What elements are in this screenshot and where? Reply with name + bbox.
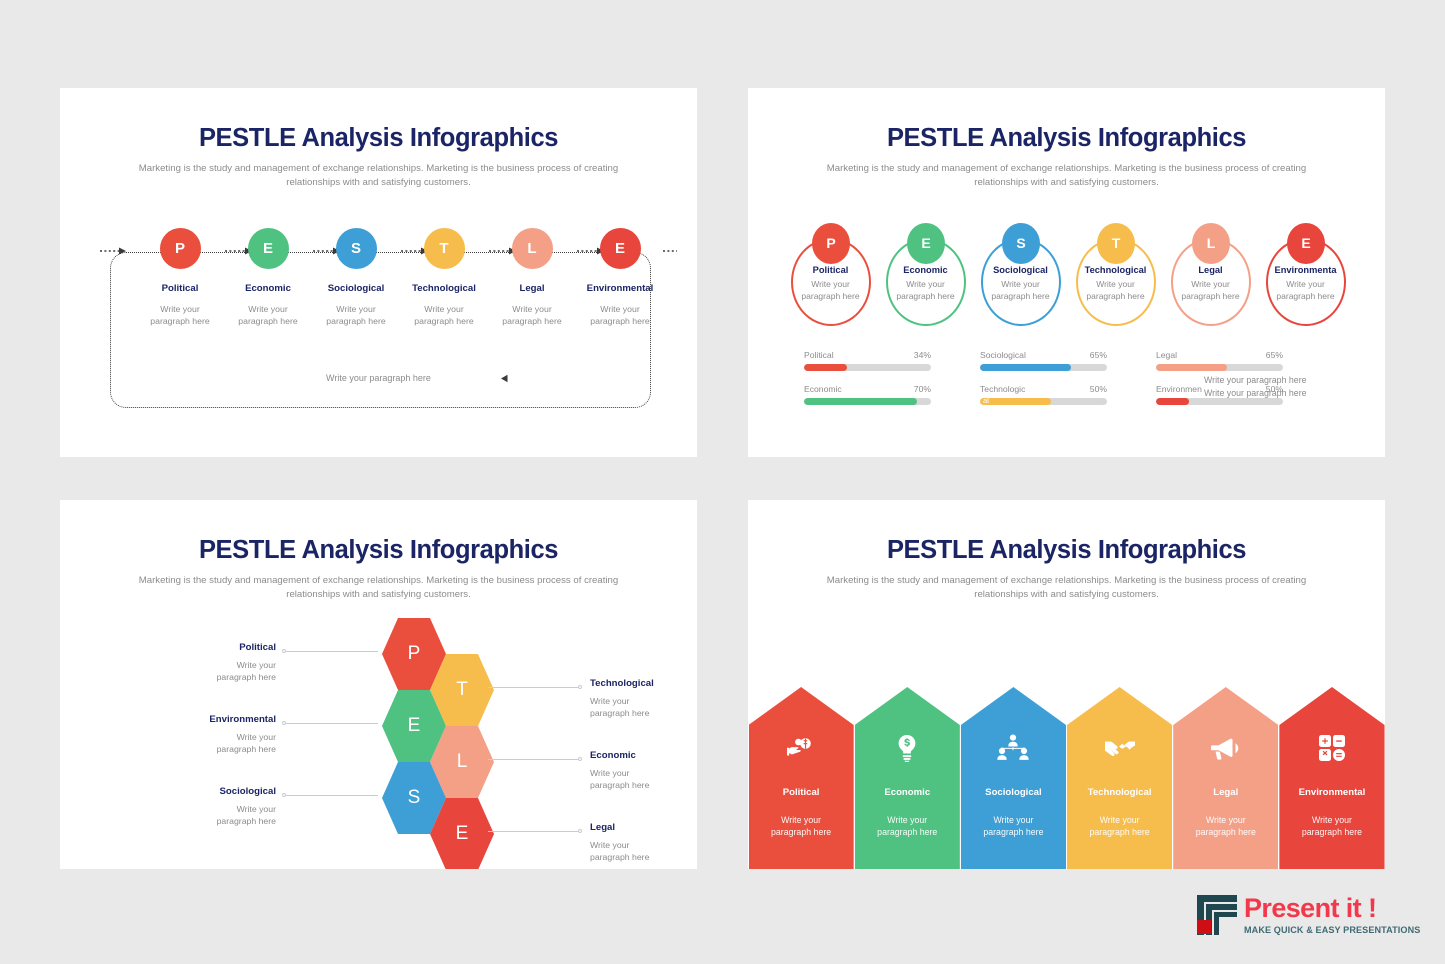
bar-header: Political 34%	[804, 350, 931, 360]
label-body-line1: Write your	[136, 659, 276, 671]
arrow-body: Write your paragraph here	[1279, 814, 1384, 839]
arrow-column-political[interactable]: Political Write your paragraph here	[749, 687, 854, 869]
arrow-body-line2: paragraph here	[1279, 826, 1384, 838]
bar-value: 70%	[914, 384, 931, 394]
node-body-line1: Write your	[224, 303, 312, 315]
bar-track	[980, 364, 1107, 372]
label-body: Write your paragraph here	[590, 767, 697, 792]
arrow-body: Write your paragraph here	[961, 814, 1066, 839]
node-body-line2: paragraph here	[312, 315, 400, 327]
node-body-line2: paragraph here	[224, 315, 312, 327]
circle-body-line2: paragraph here	[1067, 291, 1164, 303]
circle-text: Economic Write your paragraph here	[877, 265, 974, 303]
arrow-column-economic[interactable]: Economic Write your paragraph here	[855, 687, 960, 869]
connector-dot-technological	[578, 685, 582, 689]
node-body-line2: paragraph here	[136, 315, 224, 327]
letter-badge: P	[812, 223, 850, 264]
circle-body: Write your paragraph here	[1067, 279, 1164, 303]
arrow-body-line2: paragraph here	[855, 826, 960, 838]
label-political[interactable]: Political Write your paragraph here	[136, 642, 276, 684]
node-body: Write your paragraph here	[224, 303, 312, 328]
node-body: Write your paragraph here	[136, 303, 224, 328]
bar-track: al	[980, 398, 1107, 406]
label-title: Sociological	[136, 786, 276, 797]
page-title: PESTLE Analysis Infographics	[748, 124, 1385, 153]
bar-group-technological[interactable]: Technologic 50% al	[980, 384, 1107, 405]
circle-body-line1: Write your	[1162, 279, 1259, 291]
arrow-label: Sociological	[961, 787, 1066, 798]
connector-dot-environmental	[282, 721, 286, 725]
circle-body: Write your paragraph here	[972, 279, 1069, 303]
node-label: Legal	[488, 283, 576, 294]
letter-badge: E	[1287, 223, 1325, 264]
arrow-body-line2: paragraph here	[961, 826, 1066, 838]
bar-label: Environmen	[1156, 385, 1202, 394]
circle-body: Write your paragraph here	[782, 279, 879, 303]
letter-badge: L	[512, 228, 553, 269]
label-body: Write your paragraph here	[136, 731, 276, 756]
slide1-diagram: P Political Write your paragraph here E …	[106, 228, 651, 418]
label-legal[interactable]: Legal Write your paragraph here	[590, 822, 697, 864]
node-label: Sociological	[312, 283, 400, 294]
circle-text: Political Write your paragraph here	[782, 265, 879, 303]
circle-body: Write your paragraph here	[1257, 279, 1354, 303]
bar-label: Technologic	[980, 385, 1025, 394]
arrow-body: Write your paragraph here	[749, 814, 854, 839]
circle-label: Economic	[877, 265, 974, 275]
logo-tagline: MAKE QUICK & EASY PRESENTATIONS	[1244, 925, 1420, 935]
label-body: Write your paragraph here	[590, 695, 697, 720]
connector-line-legal	[488, 831, 580, 832]
label-title: Political	[136, 642, 276, 653]
node-label: Economic	[224, 283, 312, 294]
connector-dot-sociological	[282, 793, 286, 797]
bar-header: Economic 70%	[804, 384, 931, 394]
arrow-body-line1: Write your	[1173, 814, 1278, 826]
circle-body-line2: paragraph here	[782, 291, 879, 303]
connector-line-economic	[488, 759, 580, 760]
circle-text: Sociological Write your paragraph here	[972, 265, 1069, 303]
circle-body: Write your paragraph here	[877, 279, 974, 303]
circle-body-line1: Write your	[877, 279, 974, 291]
arrow-label: Political	[749, 787, 854, 798]
letter-badge: E	[248, 228, 289, 269]
arrow-body: Write your paragraph here	[1067, 814, 1172, 839]
label-body-line2: paragraph here	[136, 815, 276, 827]
node-body-line1: Write your	[312, 303, 400, 315]
arrow-label: Economic	[855, 787, 960, 798]
label-body-line2: paragraph here	[136, 743, 276, 755]
arrow-column-technological[interactable]: Technological Write your paragraph here	[1067, 687, 1172, 869]
nested-squares-icon	[1196, 894, 1238, 936]
letter-badge: E	[907, 223, 945, 264]
arrow-label: Legal	[1173, 787, 1278, 798]
bar-header: Technologic 50%	[980, 384, 1107, 394]
label-body: Write your paragraph here	[136, 803, 276, 828]
arrow-body: Write your paragraph here	[855, 814, 960, 839]
people-network-icon	[961, 733, 1066, 763]
bar-label: Economic	[804, 385, 842, 394]
bar-label-overflow: al	[983, 398, 989, 406]
slide2-circles-row: P Political Write your paragraph here E …	[782, 213, 1352, 338]
label-body-line1: Write your	[590, 767, 697, 779]
node-environmental[interactable]: E Environmental Write your paragraph her…	[576, 228, 664, 328]
circle-label: Legal	[1162, 265, 1259, 275]
bar-track	[804, 364, 931, 372]
circle-item-sociological[interactable]: S Sociological Write your paragraph here	[972, 223, 1069, 328]
letter-badge: L	[1192, 223, 1230, 264]
bar-group-legal[interactable]: Legal 65%	[1156, 350, 1283, 371]
bar-value: 50%	[1090, 384, 1107, 394]
logo-text: Present it ! MAKE QUICK & EASY PRESENTAT…	[1244, 895, 1420, 935]
hand-coin-icon	[749, 733, 854, 763]
node-body: Write your paragraph here	[312, 303, 400, 328]
bar-label: Legal	[1156, 351, 1177, 360]
slide-linear-process[interactable]: PESTLE Analysis Infographics Marketing i…	[60, 88, 697, 457]
label-sociological[interactable]: Sociological Write your paragraph here	[136, 786, 276, 828]
bar-column-2: Sociological 65% Technologic 50% al	[980, 350, 1107, 418]
slide2-note-line1: Write your paragraph here	[1204, 374, 1307, 387]
label-body-line2: paragraph here	[590, 707, 697, 719]
circle-text: Technological Write your paragraph here	[1067, 265, 1164, 303]
arrow-columns: Political Write your paragraph here	[748, 687, 1385, 869]
bar-track	[804, 398, 931, 406]
slide1-bottom-label: Write your paragraph here	[106, 373, 651, 383]
page-subtitle: Marketing is the study and management of…	[139, 162, 619, 190]
label-body: Write your paragraph here	[136, 659, 276, 684]
letter-badge: S	[1002, 223, 1040, 264]
bar-header: Sociological 65%	[980, 350, 1107, 360]
bar-group-economic[interactable]: Economic 70%	[804, 384, 931, 405]
slide2-note-line2: Write your paragraph here	[1204, 387, 1307, 400]
bar-fill	[1156, 398, 1189, 406]
bar-value: 65%	[1090, 350, 1107, 360]
arrow-body: Write your paragraph here	[1173, 814, 1278, 839]
connector-line-technological	[488, 687, 580, 688]
node-body: Write your paragraph here	[400, 303, 488, 328]
arrow-entry-icon	[100, 247, 128, 255]
circle-item-economic[interactable]: E Economic Write your paragraph here	[877, 223, 974, 328]
label-body: Write your paragraph here	[590, 839, 697, 864]
circle-body-line2: paragraph here	[972, 291, 1069, 303]
label-title: Environmental	[136, 714, 276, 725]
bar-fill	[980, 398, 1051, 406]
circle-text: Legal Write your paragraph here	[1162, 265, 1259, 303]
page-subtitle: Marketing is the study and management of…	[827, 574, 1307, 602]
bar-track	[1156, 364, 1283, 372]
page-title: PESTLE Analysis Infographics	[60, 536, 697, 565]
bar-fill	[1156, 364, 1227, 372]
slide-circles-with-bars[interactable]: PESTLE Analysis Infographics Marketing i…	[748, 88, 1385, 457]
bar-header: Legal 65%	[1156, 350, 1283, 360]
label-body-line2: paragraph here	[590, 779, 697, 791]
circle-body-line2: paragraph here	[1162, 291, 1259, 303]
node-label: Technological	[400, 283, 488, 294]
node-political[interactable]: P Political Write your paragraph here	[136, 228, 224, 328]
node-body-line1: Write your	[136, 303, 224, 315]
bar-value: 65%	[1266, 350, 1283, 360]
label-title: Economic	[590, 750, 697, 761]
node-body-line1: Write your	[576, 303, 664, 315]
label-body-line1: Write your	[136, 803, 276, 815]
circle-body-line1: Write your	[1257, 279, 1354, 291]
lightbulb-dollar-icon	[855, 733, 960, 763]
node-body-line2: paragraph here	[576, 315, 664, 327]
brand-logo[interactable]: Present it ! MAKE QUICK & EASY PRESENTAT…	[1196, 894, 1420, 936]
node-technological[interactable]: T Technological Write your paragraph her…	[400, 228, 488, 328]
label-title: Technological	[590, 678, 697, 689]
letter-badge: P	[160, 228, 201, 269]
arrow-label: Technological	[1067, 787, 1172, 798]
label-body-line2: paragraph here	[136, 671, 276, 683]
connector-line-environmental	[286, 723, 378, 724]
circle-label: Technological	[1067, 265, 1164, 275]
label-title: Legal	[590, 822, 697, 833]
bar-value: 34%	[914, 350, 931, 360]
slide-honeycomb[interactable]: PESTLE Analysis Infographics Marketing i…	[60, 500, 697, 869]
letter-badge: T	[1097, 223, 1135, 264]
node-body-line2: paragraph here	[400, 315, 488, 327]
node-body-line1: Write your	[488, 303, 576, 315]
circle-body: Write your paragraph here	[1162, 279, 1259, 303]
arrow-body-line2: paragraph here	[1173, 826, 1278, 838]
circle-item-environmental[interactable]: E Environmenta Write your paragraph here	[1257, 223, 1354, 328]
node-label: Environmental	[576, 283, 664, 294]
circle-text: Environmenta Write your paragraph here	[1257, 265, 1354, 303]
node-body-line2: paragraph here	[488, 315, 576, 327]
slide-deck-canvas: PESTLE Analysis Infographics Marketing i…	[0, 0, 1445, 964]
page-subtitle: Marketing is the study and management of…	[139, 574, 619, 602]
circle-body-line1: Write your	[972, 279, 1069, 291]
connector-dot-political	[282, 649, 286, 653]
circle-item-technological[interactable]: T Technological Write your paragraph her…	[1067, 223, 1164, 328]
handshake-icon	[1067, 733, 1172, 763]
circle-body-line1: Write your	[782, 279, 879, 291]
letter-badge: T	[424, 228, 465, 269]
circle-body-line1: Write your	[1067, 279, 1164, 291]
letter-badge: S	[336, 228, 377, 269]
bar-column-1: Political 34% Economic 70%	[804, 350, 931, 418]
label-body-line2: paragraph here	[590, 851, 697, 863]
megaphone-icon	[1173, 733, 1278, 763]
honeycomb-diagram: P T E L S E Political Write	[60, 618, 697, 868]
node-legal[interactable]: L Legal Write your paragraph here	[488, 228, 576, 328]
circle-item-political[interactable]: P Political Write your paragraph here	[782, 223, 879, 328]
node-body-line1: Write your	[400, 303, 488, 315]
arrow-body-line1: Write your	[1067, 814, 1172, 826]
arrow-return-icon	[500, 374, 509, 383]
label-body-line1: Write your	[136, 731, 276, 743]
bar-label: Political	[804, 351, 834, 360]
arrow-body-line1: Write your	[749, 814, 854, 826]
node-body: Write your paragraph here	[488, 303, 576, 328]
bar-label: Sociological	[980, 351, 1026, 360]
label-technological[interactable]: Technological Write your paragraph here	[590, 678, 697, 720]
arrow-body-line2: paragraph here	[749, 826, 854, 838]
label-body-line1: Write your	[590, 839, 697, 851]
label-body-line1: Write your	[590, 695, 697, 707]
label-economic[interactable]: Economic Write your paragraph here	[590, 750, 697, 792]
connector-line-sociological	[286, 795, 378, 796]
bar-fill	[804, 364, 847, 372]
bar-fill	[804, 398, 917, 406]
label-environmental[interactable]: Environmental Write your paragraph here	[136, 714, 276, 756]
slide2-note: Write your paragraph here Write your par…	[1204, 374, 1307, 400]
arrow-body-line1: Write your	[961, 814, 1066, 826]
arrow-body-line1: Write your	[855, 814, 960, 826]
letter-badge: E	[600, 228, 641, 269]
arrow-column-environmental[interactable]: Environmental Write your paragraph here	[1279, 687, 1384, 869]
node-sociological[interactable]: S Sociological Write your paragraph here	[312, 228, 400, 328]
connector-dot-legal	[578, 829, 582, 833]
logo-wordmark: Present it !	[1244, 895, 1420, 922]
page-title: PESTLE Analysis Infographics	[60, 124, 697, 153]
circle-body-line2: paragraph here	[1257, 291, 1354, 303]
arrow-body-line1: Write your	[1279, 814, 1384, 826]
calculator-icon	[1279, 733, 1384, 763]
arrow-label: Environmental	[1279, 787, 1384, 798]
circle-label: Political	[782, 265, 879, 275]
node-body: Write your paragraph here	[576, 303, 664, 328]
arrow-column-sociological[interactable]: Sociological Write your paragraph here	[961, 687, 1066, 869]
arrow-column-legal[interactable]: Legal Write your paragraph here	[1173, 687, 1278, 869]
arrow-exit-icon	[663, 247, 681, 255]
page-title: PESTLE Analysis Infographics	[748, 536, 1385, 565]
circle-body-line2: paragraph here	[877, 291, 974, 303]
circle-item-legal[interactable]: L Legal Write your paragraph here	[1162, 223, 1259, 328]
connector-line-political	[286, 651, 378, 652]
slide-arrow-columns[interactable]: PESTLE Analysis Infographics Marketing i…	[748, 500, 1385, 869]
bar-group-political[interactable]: Political 34%	[804, 350, 931, 371]
circle-label: Sociological	[972, 265, 1069, 275]
node-label: Political	[136, 283, 224, 294]
bar-fill	[980, 364, 1071, 372]
page-subtitle: Marketing is the study and management of…	[827, 162, 1307, 190]
arrow-body-line2: paragraph here	[1067, 826, 1172, 838]
node-economic[interactable]: E Economic Write your paragraph here	[224, 228, 312, 328]
bar-group-sociological[interactable]: Sociological 65%	[980, 350, 1107, 371]
connector-dot-economic	[578, 757, 582, 761]
circle-label: Environmenta	[1257, 265, 1354, 275]
